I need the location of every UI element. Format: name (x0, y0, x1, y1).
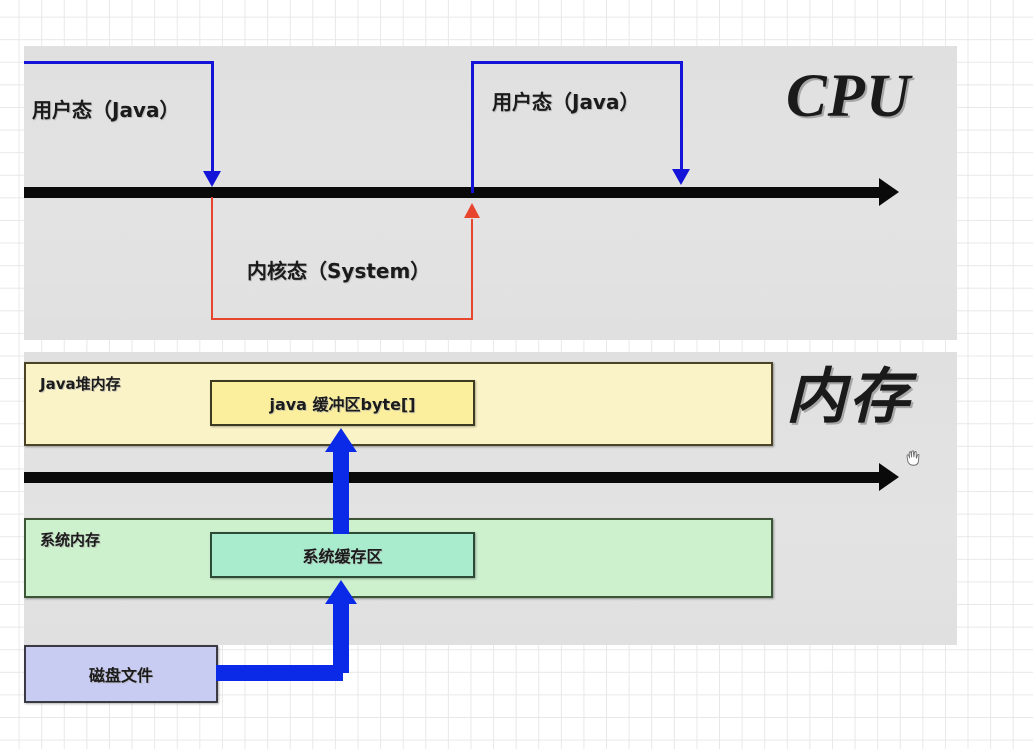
kernel-path-left-vertical (211, 197, 213, 320)
java-heap-label: Java堆内存 (40, 373, 121, 394)
user-mode-left-label: 用户态（Java） (32, 94, 179, 123)
kernel-path-arrow-up-icon (464, 203, 480, 218)
cpu-timeline-arrow-icon (879, 178, 899, 206)
cpu-section-title: CPU (786, 62, 911, 132)
user-path-2-horizontal (471, 61, 683, 64)
kernel-path-horizontal (211, 318, 473, 320)
system-cache-box: 系统缓存区 (210, 532, 475, 578)
memory-section-title: 内存 (786, 362, 912, 432)
java-buffer-box: java 缓冲区byte[] (210, 380, 475, 426)
user-path-1-vertical (211, 61, 214, 173)
user-path-1-horizontal (24, 61, 214, 64)
user-path-1-arrow-down-icon (203, 171, 221, 187)
user-path-2-left-vertical (471, 63, 474, 193)
memory-timeline-arrow-icon (879, 463, 899, 491)
kernel-path-right-vertical (471, 219, 473, 320)
kernel-mode-label: 内核态（System） (247, 255, 430, 284)
disk-to-cache-arrow-up-icon (325, 580, 357, 604)
user-path-2-right-vertical (680, 61, 683, 171)
cpu-timeline-shaft (24, 187, 882, 198)
disk-to-cache-arrow-horizontal (216, 665, 343, 681)
cache-to-heap-arrow-shaft (333, 452, 349, 534)
user-path-2-arrow-down-icon (672, 169, 690, 185)
cache-to-heap-arrow-up-icon (325, 428, 357, 452)
disk-to-cache-arrow-vertical (333, 603, 349, 673)
memory-timeline-shaft (24, 472, 882, 483)
disk-file-box: 磁盘文件 (24, 645, 218, 703)
user-mode-right-label: 用户态（Java） (492, 86, 639, 115)
hand-cursor-icon (901, 446, 925, 470)
diagram-canvas: CPU 用户态（Java） 用户态（Java） 内核态（System） 内存 J… (0, 0, 1033, 749)
system-memory-label: 系统内存 (40, 529, 100, 550)
